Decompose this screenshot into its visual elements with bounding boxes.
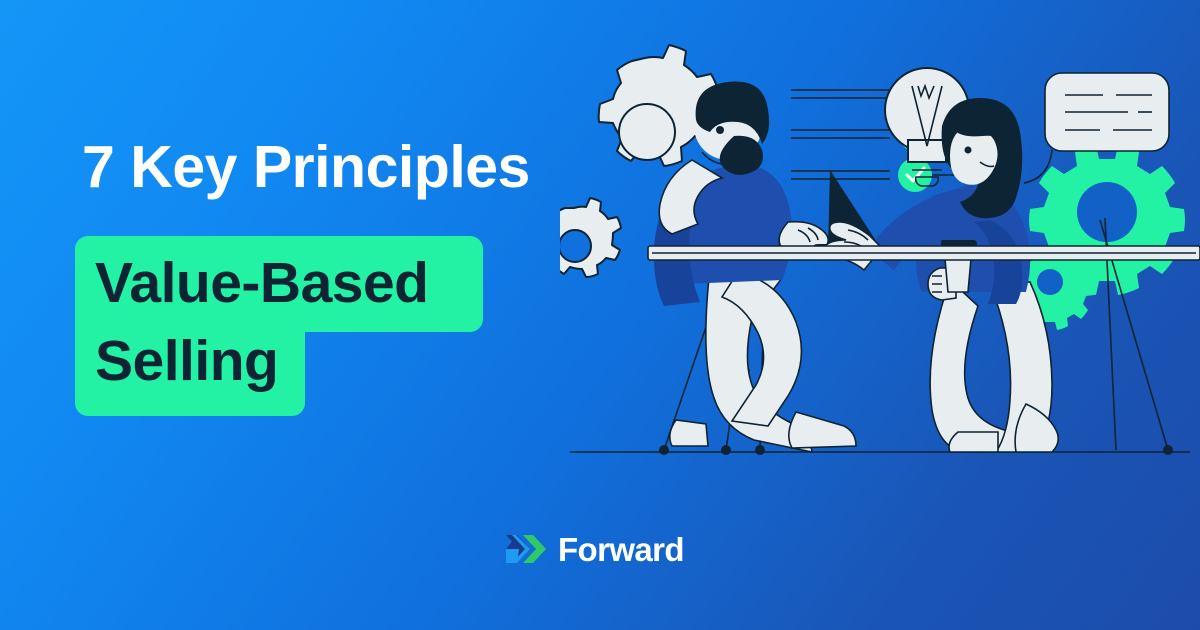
highlight-text: Value-Based Selling bbox=[95, 244, 429, 400]
checkmark-3-icon bbox=[898, 158, 932, 192]
highlight-text-line2: Selling bbox=[95, 322, 429, 400]
illustration: .lt{fill:#e8edf0;} .ol{fill:none;stroke:… bbox=[560, 40, 1200, 510]
highlight-text-line1: Value-Based bbox=[95, 251, 429, 315]
banner-canvas: 7 Key Principles Value-Based Selling .lt… bbox=[0, 0, 1200, 630]
brand-wordmark: Forward bbox=[558, 533, 684, 566]
brand-logo[interactable]: Forward bbox=[505, 528, 695, 570]
headline-block: 7 Key Principles Value-Based Selling bbox=[0, 0, 620, 460]
desk bbox=[648, 246, 1200, 260]
gear-small-white-icon bbox=[560, 198, 621, 277]
forward-chevron-icon bbox=[505, 534, 547, 564]
page-title: 7 Key Principles bbox=[82, 137, 530, 199]
